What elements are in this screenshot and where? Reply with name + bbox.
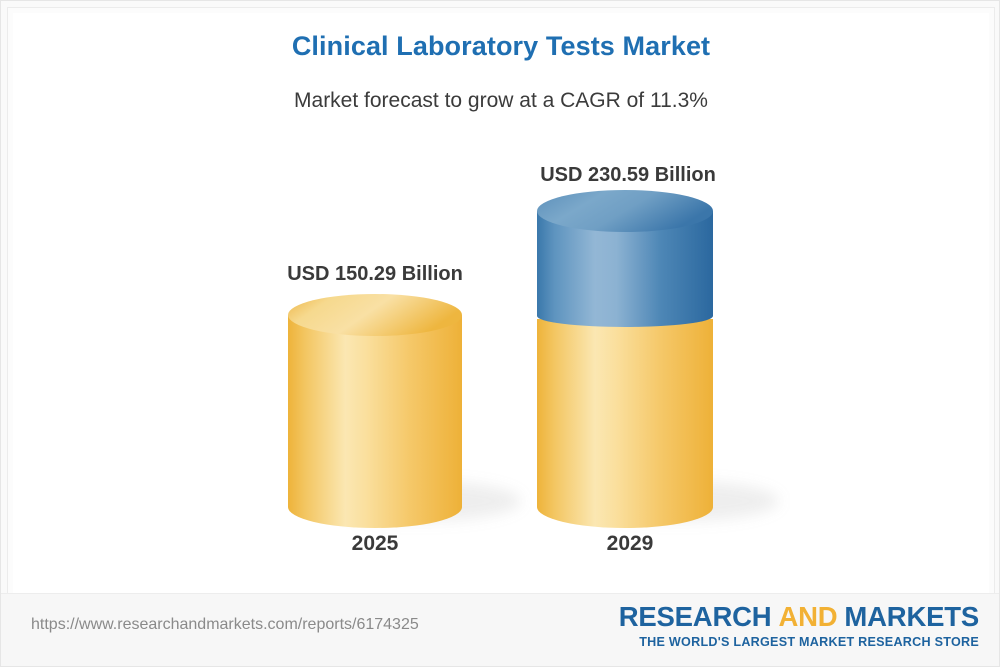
logo-word-markets: MARKETS [844,601,979,632]
chart-canvas: Clinical Laboratory Tests Market Market … [0,0,1000,667]
report-url[interactable]: https://www.researchandmarkets.com/repor… [31,616,419,634]
logo-wordmark: RESEARCHANDMARKETS [619,603,979,632]
chart-subtitle: Market forecast to grow at a CAGR of 11.… [1,89,1000,113]
logo-word-research: RESEARCH [619,601,772,632]
footer: https://www.researchandmarkets.com/repor… [1,593,1000,667]
page-title: Clinical Laboratory Tests Market [1,31,1000,62]
bar-2025-cylinder [283,293,493,533]
value-label-2025: USD 150.29 Billion [275,263,475,286]
logo-tagline: THE WORLD'S LARGEST MARKET RESEARCH STOR… [619,635,979,649]
logo-word-and: AND [778,601,837,632]
bar-2029-cylinder [532,189,744,534]
value-label-2029: USD 230.59 Billion [521,164,735,187]
category-label-2025: 2025 [275,532,475,556]
category-label-2029: 2029 [530,532,730,556]
research-and-markets-logo[interactable]: RESEARCHANDMARKETS THE WORLD'S LARGEST M… [619,603,979,649]
